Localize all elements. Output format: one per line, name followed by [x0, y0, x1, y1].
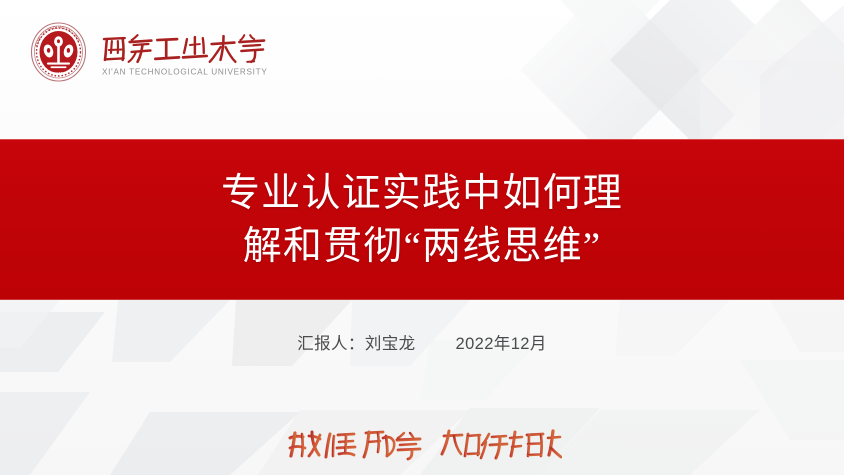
title-slide: 1955 XI'AN TECHNOLOGICAL UNIV — [0, 0, 844, 475]
university-seal-icon: 1955 XI'AN TECHNOLOGICAL UNIV — [28, 21, 89, 83]
university-brand-lockup: 1955 XI'AN TECHNOLOGICAL UNIV — [28, 21, 268, 83]
title-line-2: 解和贯彻“两线思维” — [243, 220, 602, 273]
svg-text:1955: 1955 — [54, 71, 63, 75]
presentation-date: 2022年12月 — [456, 335, 547, 353]
wordmark-chinese — [100, 31, 268, 65]
title-line-1: 专业认证实践中如何理 — [221, 167, 623, 220]
university-motto — [0, 424, 844, 470]
slide-title: 专业认证实践中如何理 解和贯彻“两线思维” — [0, 139, 844, 300]
wordmark-english: XI'AN TECHNOLOGICAL UNIVERSITY — [102, 67, 268, 76]
university-wordmark: XI'AN TECHNOLOGICAL UNIVERSITY — [100, 29, 268, 76]
presenter-line: 汇报人：刘宝龙 2022年12月 — [0, 330, 844, 354]
motto-calligraphy — [282, 424, 562, 470]
slide-header: 1955 XI'AN TECHNOLOGICAL UNIV — [0, 0, 844, 139]
presenter-name: 汇报人：刘宝龙 — [297, 335, 415, 353]
